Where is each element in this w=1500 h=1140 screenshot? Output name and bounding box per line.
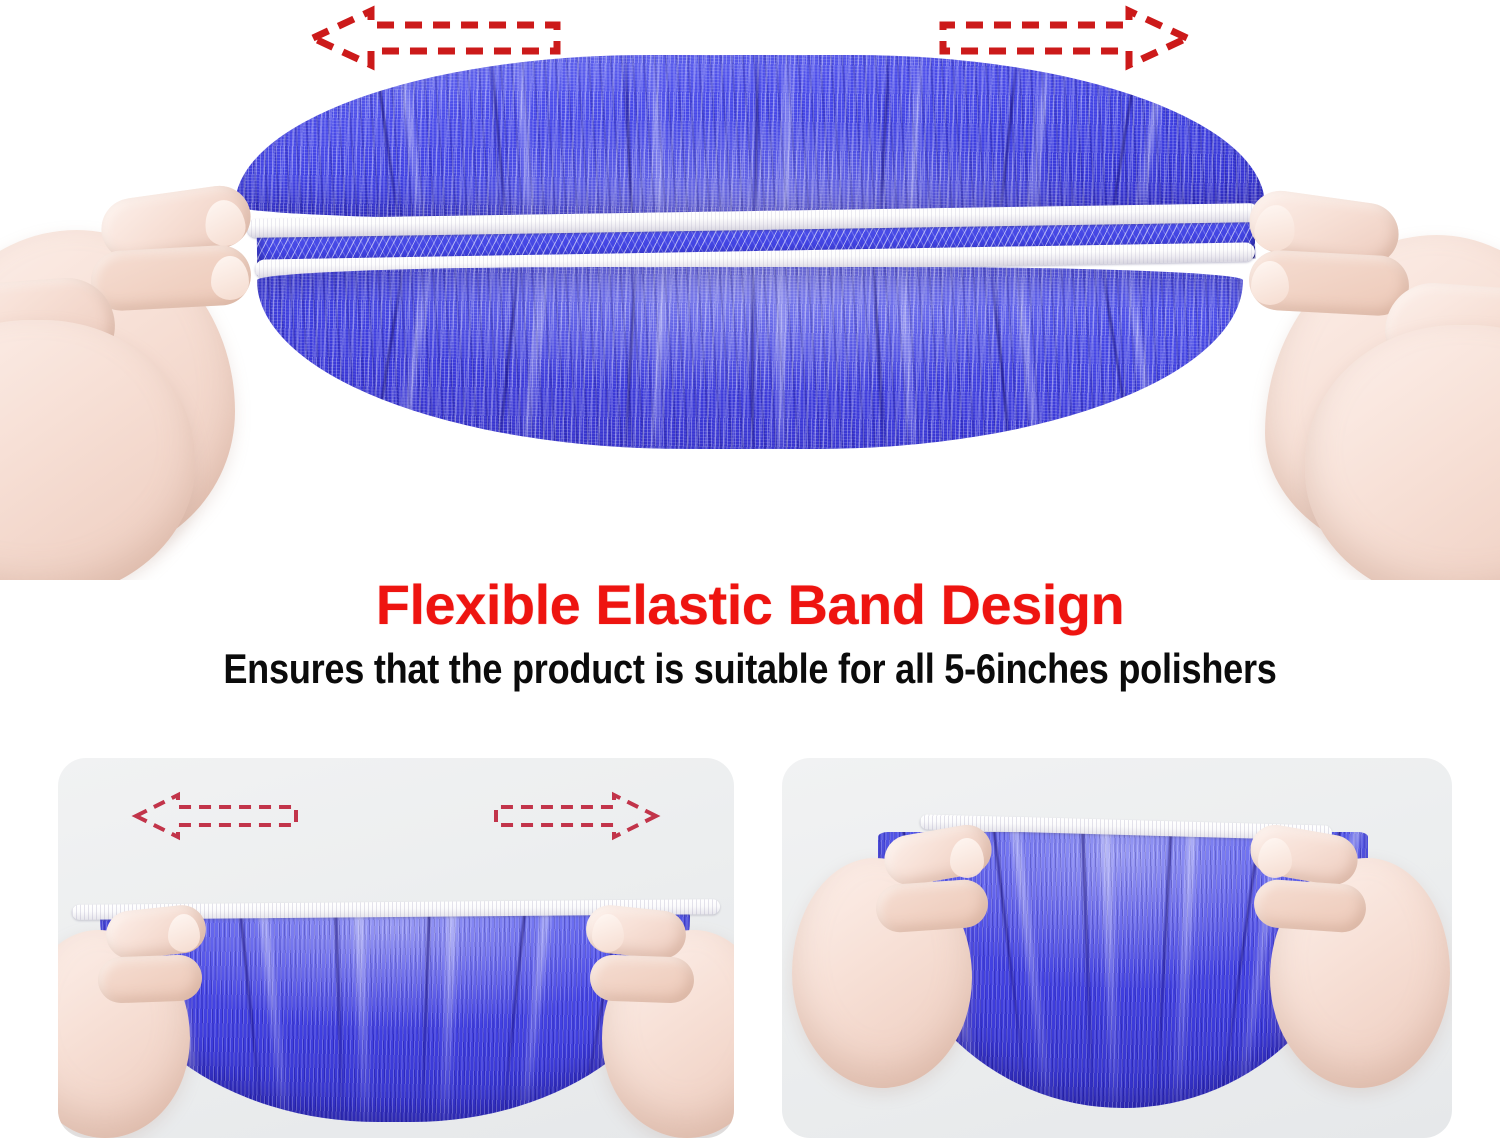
hand-right bbox=[1165, 175, 1500, 580]
arrow-right-icon bbox=[490, 790, 662, 842]
hand-left bbox=[792, 828, 1002, 1088]
subheadline: Ensures that the product is suitable for… bbox=[105, 646, 1395, 692]
bonnet-pleats bbox=[257, 267, 1243, 449]
hero-section bbox=[0, 0, 1500, 580]
hand-left bbox=[0, 170, 335, 580]
polisher-bonnet-stretched bbox=[195, 55, 1305, 515]
bonnet-lower-half bbox=[257, 267, 1243, 449]
product-marketing-image: Flexible Elastic Band Design Ensures tha… bbox=[0, 0, 1500, 1140]
bonnet-pleats bbox=[235, 55, 1265, 220]
panel-stretch-wide bbox=[58, 758, 734, 1138]
hand-left bbox=[58, 908, 210, 1138]
headline: Flexible Elastic Band Design bbox=[0, 576, 1500, 634]
text-block: Flexible Elastic Band Design Ensures tha… bbox=[0, 576, 1500, 692]
hand-right bbox=[1240, 828, 1450, 1088]
bonnet-upper-half bbox=[235, 55, 1265, 220]
panel-relaxed bbox=[782, 758, 1452, 1138]
hand-right bbox=[582, 908, 734, 1138]
arrow-left-icon bbox=[130, 790, 302, 842]
